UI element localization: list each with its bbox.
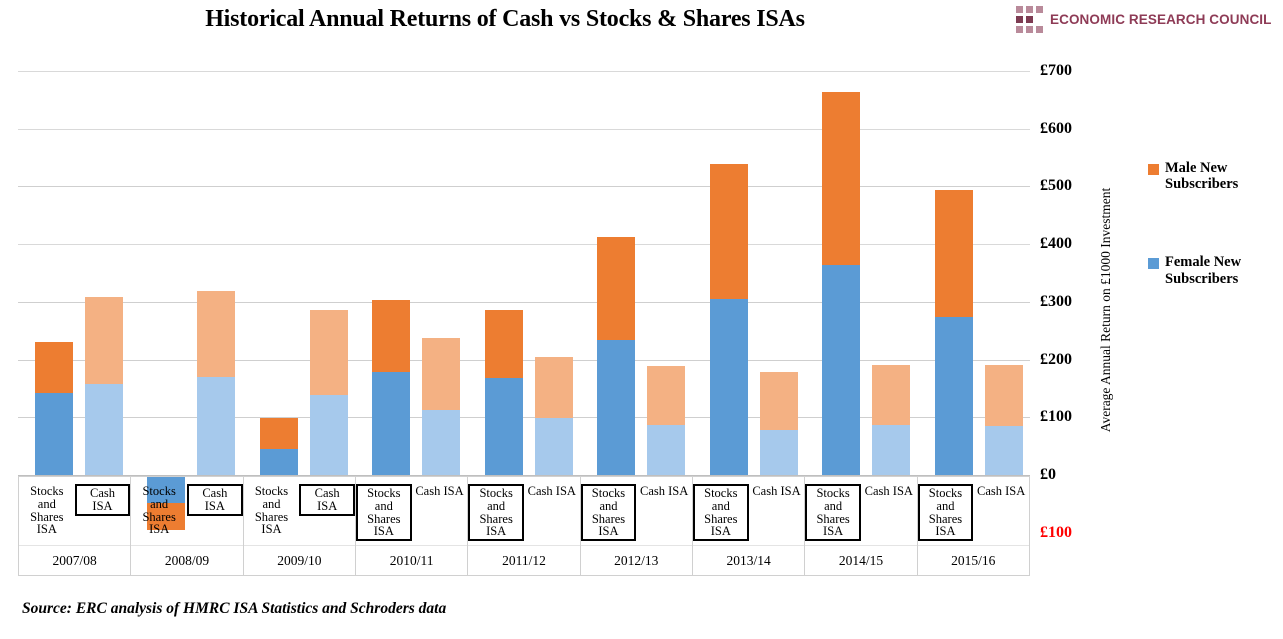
category-label-cash: Cash ISA <box>299 484 355 516</box>
segment-female <box>647 425 685 476</box>
segment-male <box>372 300 410 372</box>
category-type-cell-stocks: Stocks and Shares ISA <box>918 477 974 545</box>
segment-male <box>85 297 123 384</box>
bar-cash-2011-12 <box>535 357 573 476</box>
category-cell-2008-09: Stocks and Shares ISACash ISA2008/09 <box>131 477 243 575</box>
category-type-row: Stocks and Shares ISACash ISA <box>19 477 130 546</box>
segment-male <box>35 342 73 394</box>
y-tick-600: £600 <box>1040 120 1072 138</box>
page-title: Historical Annual Returns of Cash vs Sto… <box>0 6 1010 33</box>
category-type-cell-cash: Cash ISA <box>187 477 243 545</box>
legend-label: Male New Subscribers <box>1165 160 1283 192</box>
category-label-cash: Cash ISA <box>637 484 691 499</box>
category-cell-2010-11: Stocks and Shares ISACash ISA2010/11 <box>356 477 468 575</box>
category-type-cell-cash: Cash ISA <box>412 477 468 545</box>
category-label-cash: Cash ISA <box>187 484 243 516</box>
segment-female <box>935 317 973 476</box>
category-year-label: 2012/13 <box>614 553 658 569</box>
y-tick-0: £0 <box>1040 466 1056 484</box>
category-year-row: 2010/11 <box>356 546 467 575</box>
category-year-label: 2011/12 <box>502 553 546 569</box>
category-type-row: Stocks and Shares ISACash ISA <box>693 477 804 546</box>
category-year-label: 2010/11 <box>390 553 434 569</box>
segment-female <box>485 378 523 476</box>
segment-female <box>372 372 410 476</box>
legend-item-male: Male New Subscribers <box>1148 160 1283 192</box>
legend-swatch-icon <box>1148 258 1159 269</box>
segment-male <box>535 357 573 419</box>
bar-stocks-2013-14 <box>710 164 748 476</box>
segment-female <box>710 299 748 476</box>
y-tick-200: £200 <box>1040 351 1072 369</box>
category-type-cell-stocks: Stocks and Shares ISA <box>693 477 749 545</box>
category-type-cell-stocks: Stocks and Shares ISA <box>19 477 75 545</box>
logo-grid-icon <box>1016 6 1043 33</box>
category-label-cash: Cash ISA <box>974 484 1028 499</box>
y-tick-700: £700 <box>1040 62 1072 80</box>
segment-male <box>310 310 348 395</box>
category-type-cell-cash: Cash ISA <box>749 477 805 545</box>
segment-male <box>935 190 973 317</box>
segment-female <box>422 410 460 476</box>
category-year-row: 2008/09 <box>131 546 242 575</box>
bar-group-2012-13 <box>580 72 692 476</box>
category-year-label: 2014/15 <box>839 553 883 569</box>
category-label-cash: Cash ISA <box>862 484 916 499</box>
category-type-row: Stocks and Shares ISACash ISA <box>581 477 692 546</box>
bar-group-2011-12 <box>468 72 580 476</box>
category-type-cell-stocks: Stocks and Shares ISA <box>805 477 861 545</box>
bar-stocks-2011-12 <box>485 310 523 476</box>
category-label-cash: Cash ISA <box>525 484 579 499</box>
category-year-label: 2013/14 <box>727 553 771 569</box>
bar-cash-2012-13 <box>647 366 685 476</box>
category-type-row: Stocks and Shares ISACash ISA <box>244 477 355 546</box>
category-type-cell-cash: Cash ISA <box>861 477 917 545</box>
bar-cash-2010-11 <box>422 338 460 477</box>
category-label-stocks: Stocks and Shares ISA <box>468 484 524 541</box>
bar-cash-2008-09 <box>197 291 235 476</box>
category-cell-2009-10: Stocks and Shares ISACash ISA2009/10 <box>244 477 356 575</box>
category-year-row: 2012/13 <box>581 546 692 575</box>
segment-female <box>85 384 123 476</box>
bar-cash-2009-10 <box>310 310 348 476</box>
segment-female <box>197 377 235 476</box>
source-note: Source: ERC analysis of HMRC ISA Statist… <box>22 600 446 618</box>
category-cell-2013-14: Stocks and Shares ISACash ISA2013/14 <box>693 477 805 575</box>
category-cell-2015-16: Stocks and Shares ISACash ISA2015/16 <box>918 477 1029 575</box>
bar-stocks-2007-08 <box>35 342 73 476</box>
bar-group-2007-08 <box>18 72 130 476</box>
segment-male <box>710 164 748 298</box>
erc-logo: ECONOMIC RESEARCH COUNCIL <box>1016 6 1272 33</box>
segment-female <box>597 340 635 476</box>
y-tick-100: £100 <box>1040 408 1072 426</box>
category-label-stocks: Stocks and Shares ISA <box>245 484 297 537</box>
chart-plot-area <box>18 72 1030 476</box>
category-type-row: Stocks and Shares ISACash ISA <box>356 477 467 546</box>
bar-group-2009-10 <box>243 72 355 476</box>
segment-female <box>35 393 73 476</box>
category-label-stocks: Stocks and Shares ISA <box>21 484 73 537</box>
category-year-row: 2013/14 <box>693 546 804 575</box>
bar-cash-2013-14 <box>760 372 798 476</box>
segment-female <box>760 430 798 476</box>
category-type-cell-stocks: Stocks and Shares ISA <box>468 477 524 545</box>
category-label-stocks: Stocks and Shares ISA <box>133 484 185 537</box>
category-type-cell-stocks: Stocks and Shares ISA <box>244 477 300 545</box>
category-type-cell-cash: Cash ISA <box>524 477 580 545</box>
category-cell-2014-15: Stocks and Shares ISACash ISA2014/15 <box>805 477 917 575</box>
segment-male <box>647 366 685 425</box>
category-year-row: 2011/12 <box>468 546 579 575</box>
bar-stocks-2010-11 <box>372 300 410 476</box>
bar-stocks-2012-13 <box>597 237 635 477</box>
category-year-label: 2015/16 <box>951 553 995 569</box>
bar-group-2008-09 <box>130 72 242 476</box>
category-cell-2011-12: Stocks and Shares ISACash ISA2011/12 <box>468 477 580 575</box>
bar-cash-2014-15 <box>872 365 910 476</box>
category-year-row: 2009/10 <box>244 546 355 575</box>
category-year-row: 2007/08 <box>19 546 130 575</box>
y-tick-300: £300 <box>1040 293 1072 311</box>
category-type-row: Stocks and Shares ISACash ISA <box>131 477 242 546</box>
category-type-cell-cash: Cash ISA <box>299 477 355 545</box>
bar-group-2010-11 <box>355 72 467 476</box>
segment-female <box>535 418 573 476</box>
segment-male <box>260 418 298 449</box>
category-type-cell-stocks: Stocks and Shares ISA <box>356 477 412 545</box>
category-axis-table: Stocks and Shares ISACash ISA2007/08Stoc… <box>18 476 1030 576</box>
bar-stocks-2009-10 <box>260 418 298 476</box>
bar-group-2013-14 <box>693 72 805 476</box>
y-tick-400: £400 <box>1040 235 1072 253</box>
category-year-row: 2014/15 <box>805 546 916 575</box>
segment-male <box>597 237 635 341</box>
bar-stocks-2014-15 <box>822 92 860 476</box>
segment-female <box>260 449 298 476</box>
segment-male <box>485 310 523 378</box>
bar-group-2014-15 <box>805 72 917 476</box>
segment-female <box>310 395 348 476</box>
category-type-cell-stocks: Stocks and Shares ISA <box>131 477 187 545</box>
legend-swatch-icon <box>1148 164 1159 175</box>
segment-male <box>872 365 910 425</box>
category-year-label: 2009/10 <box>277 553 321 569</box>
category-year-row: 2015/16 <box>918 546 1029 575</box>
category-type-row: Stocks and Shares ISACash ISA <box>468 477 579 546</box>
logo-text: ECONOMIC RESEARCH COUNCIL <box>1050 12 1272 27</box>
category-type-cell-cash: Cash ISA <box>973 477 1029 545</box>
bar-stocks-2015-16 <box>935 190 973 476</box>
bar-group-2015-16 <box>918 72 1030 476</box>
category-label-stocks: Stocks and Shares ISA <box>356 484 412 541</box>
category-type-row: Stocks and Shares ISACash ISA <box>805 477 916 546</box>
category-label-stocks: Stocks and Shares ISA <box>918 484 974 541</box>
category-label-stocks: Stocks and Shares ISA <box>693 484 749 541</box>
category-type-cell-cash: Cash ISA <box>75 477 131 545</box>
category-cell-2012-13: Stocks and Shares ISACash ISA2012/13 <box>581 477 693 575</box>
y-tick-neg100: £100 <box>1040 524 1072 542</box>
category-year-label: 2008/09 <box>165 553 209 569</box>
category-type-cell-cash: Cash ISA <box>636 477 692 545</box>
category-cell-2007-08: Stocks and Shares ISACash ISA2007/08 <box>19 477 131 575</box>
category-label-stocks: Stocks and Shares ISA <box>805 484 861 541</box>
segment-male <box>985 365 1023 426</box>
category-label-cash: Cash ISA <box>749 484 803 499</box>
legend-item-female: Female New Subscribers <box>1148 254 1283 286</box>
bar-cash-2007-08 <box>85 297 123 476</box>
legend-label: Female New Subscribers <box>1165 254 1283 286</box>
y-axis-label: Average Annual Return on £1000 Investmen… <box>1098 150 1114 470</box>
chart-legend: Male New SubscribersFemale New Subscribe… <box>1148 160 1283 349</box>
segment-female <box>872 425 910 476</box>
category-type-row: Stocks and Shares ISACash ISA <box>918 477 1029 546</box>
segment-female <box>822 265 860 476</box>
y-tick-500: £500 <box>1040 177 1072 195</box>
segment-male <box>760 372 798 430</box>
segment-male <box>197 291 235 376</box>
segment-female <box>985 426 1023 476</box>
category-label-cash: Cash ISA <box>75 484 131 516</box>
bar-cash-2015-16 <box>985 365 1023 476</box>
category-type-cell-stocks: Stocks and Shares ISA <box>581 477 637 545</box>
category-label-cash: Cash ISA <box>412 484 466 499</box>
category-label-stocks: Stocks and Shares ISA <box>581 484 637 541</box>
category-year-label: 2007/08 <box>53 553 97 569</box>
segment-male <box>422 338 460 410</box>
segment-male <box>822 92 860 265</box>
